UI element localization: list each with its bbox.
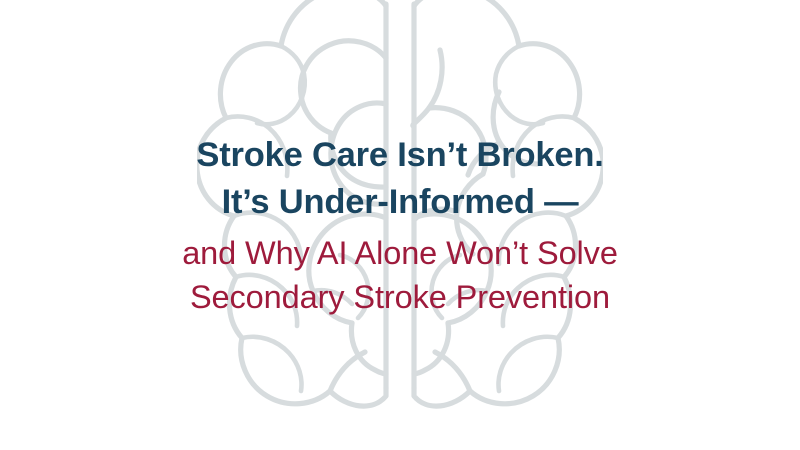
- headline-group: Stroke Care Isn’t Broken. It’s Under-Inf…: [196, 132, 603, 226]
- headline-line-2: It’s Under-Informed —: [196, 179, 603, 226]
- subheadline-group: and Why AI Alone Won’t Solve Secondary S…: [182, 231, 618, 319]
- title-text-block: Stroke Care Isn’t Broken. It’s Under-Inf…: [0, 0, 800, 450]
- title-card: Stroke Care Isn’t Broken. It’s Under-Inf…: [0, 0, 800, 450]
- headline-line-1: Stroke Care Isn’t Broken.: [196, 132, 603, 179]
- subheadline-line-2: Secondary Stroke Prevention: [182, 275, 618, 319]
- subheadline-line-1: and Why AI Alone Won’t Solve: [182, 231, 618, 275]
